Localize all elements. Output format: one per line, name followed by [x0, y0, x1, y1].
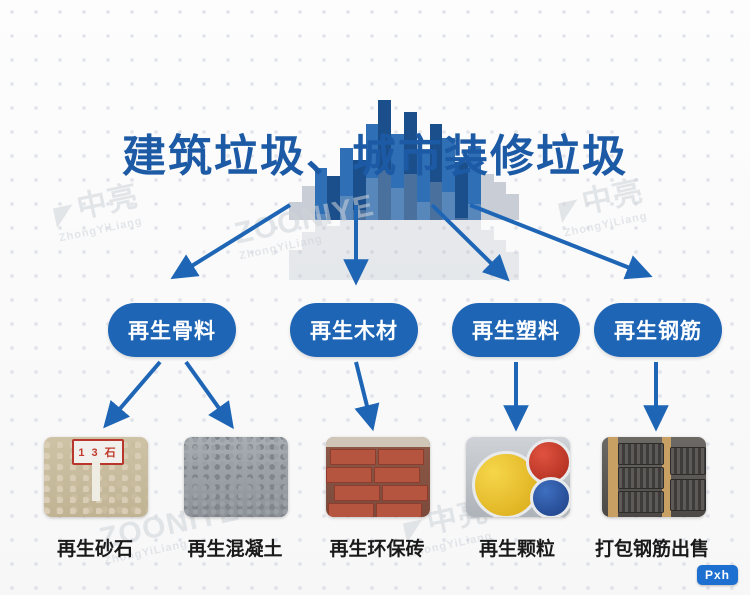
- page-title: 建筑垃圾、城市装修垃圾: [0, 120, 750, 184]
- category-label: 再生塑料: [472, 315, 560, 345]
- product-caption: 打包钢筋出售: [552, 534, 750, 561]
- category-pill-aggregate[interactable]: 再生骨料: [108, 303, 236, 357]
- category-pill-plastic[interactable]: 再生塑料: [452, 303, 580, 357]
- watermark: ◤中亮 ZhongYiLiang: [51, 182, 145, 247]
- watermark-brand-cn: 中亮: [74, 182, 141, 224]
- pxh-badge[interactable]: Pxh: [697, 565, 738, 585]
- recycled-plastic-pellets-photo: [466, 437, 570, 517]
- watermark-brand-en: ZhongYiLiang: [58, 214, 145, 247]
- category-label: 再生钢筋: [614, 315, 702, 345]
- watermark-brand-en: ZhongYiLiang: [563, 209, 650, 242]
- watermark: ◤中亮 ZhongYiLiang: [556, 177, 650, 242]
- watermark-logo-icon: ◤: [51, 197, 77, 231]
- recycled-concrete-photo: [184, 437, 288, 517]
- skyline-echo-decoration: [289, 170, 519, 280]
- category-label: 再生木材: [310, 315, 398, 345]
- watermark-logo-icon: ◤: [556, 192, 582, 226]
- category-pill-rebar[interactable]: 再生钢筋: [594, 303, 722, 357]
- baled-rebar-photo: [602, 437, 706, 517]
- infographic-canvas: ◤中亮 ZhongYiLiang ZOONIYE ZhongYiLiang ◤中…: [0, 0, 750, 595]
- category-pill-wood[interactable]: 再生木材: [290, 303, 418, 357]
- eco-paving-brick-photo: [326, 437, 430, 517]
- recycled-sand-gravel-photo: 1 3 石: [44, 437, 148, 517]
- category-label: 再生骨料: [128, 315, 216, 345]
- sign-post: [92, 461, 100, 501]
